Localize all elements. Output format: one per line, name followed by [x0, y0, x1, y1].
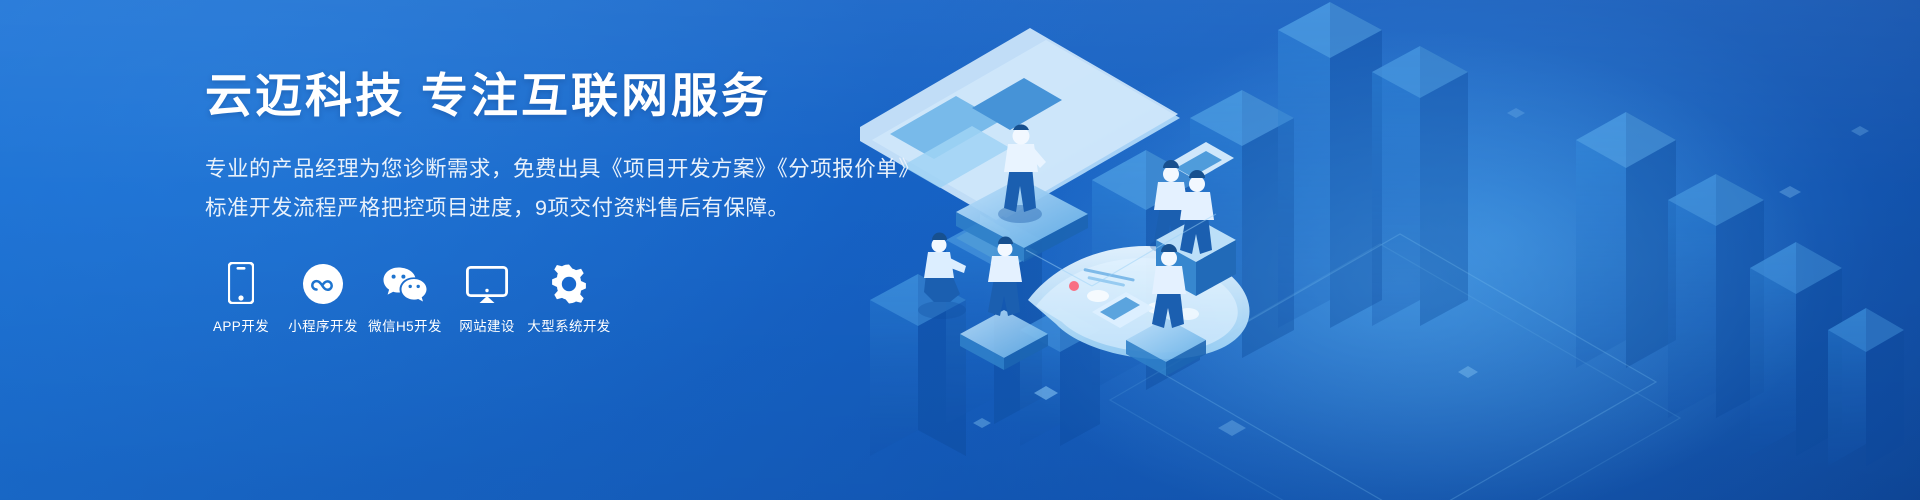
isometric-illustration	[860, 0, 1920, 500]
service-label-website: 网站建设	[459, 315, 515, 335]
service-item-app[interactable]: APP开发	[205, 262, 277, 335]
service-label-miniapp: 小程序开发	[288, 315, 358, 335]
page-title: 云迈科技 专注互联网服务	[205, 66, 945, 126]
hero-banner: 云迈科技 专注互联网服务 专业的产品经理为您诊断需求，免费出具《项目开发方案》《…	[0, 0, 1920, 500]
service-label-system: 大型系统开发	[527, 315, 610, 335]
subtitle-line-2: 标准开发流程严格把控项目进度，9项交付资料售后有保障。	[205, 189, 945, 228]
mini-program-icon	[303, 262, 343, 304]
hero-content: 云迈科技 专注互联网服务 专业的产品经理为您诊断需求，免费出具《项目开发方案》《…	[205, 66, 945, 335]
wechat-icon	[382, 262, 428, 304]
subtitle-line-1: 专业的产品经理为您诊断需求，免费出具《项目开发方案》《分项报价单》	[205, 150, 945, 189]
gear-icon	[549, 262, 589, 304]
service-item-miniapp[interactable]: 小程序开发	[287, 262, 359, 335]
service-item-wechat[interactable]: 微信H5开发	[369, 262, 441, 335]
mobile-phone-icon	[228, 262, 254, 304]
service-list: APP开发 小程序开发	[205, 262, 945, 335]
service-label-wechat: 微信H5开发	[368, 315, 442, 335]
service-item-system[interactable]: 大型系统开发	[533, 262, 605, 335]
hero-subtitle: 专业的产品经理为您诊断需求，免费出具《项目开发方案》《分项报价单》 标准开发流程…	[205, 150, 945, 228]
service-label-app: APP开发	[213, 315, 269, 335]
monitor-icon	[466, 262, 508, 304]
service-item-website[interactable]: 网站建设	[451, 262, 523, 335]
